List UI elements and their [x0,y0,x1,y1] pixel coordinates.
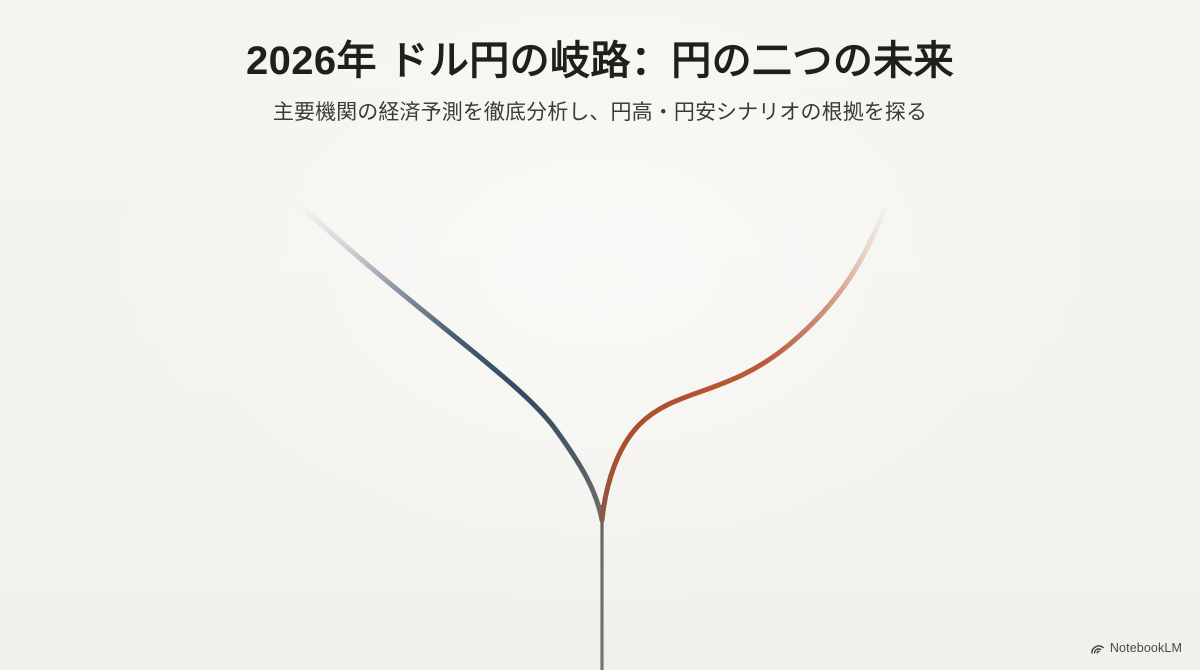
path-branch-yen-weak [602,205,886,520]
notebooklm-spiral-icon [1090,641,1105,656]
notebooklm-watermark: NotebookLM [1090,641,1182,656]
page-title: 2026年 ドル円の岐路：円の二つの未来 [0,38,1200,85]
page-subtitle: 主要機関の経済予測を徹底分析し、円高・円安シナリオの根拠を探る [0,99,1200,126]
notebooklm-watermark-label: NotebookLM [1110,642,1182,655]
slide-header: 2026年 ドル円の岐路：円の二つの未来 主要機関の経済予測を徹底分析し、円高・… [0,0,1200,126]
slide-canvas: 2026年 ドル円の岐路：円の二つの未来 主要機関の経済予測を徹底分析し、円高・… [0,0,1200,670]
path-branch-yen-strong [300,205,602,520]
